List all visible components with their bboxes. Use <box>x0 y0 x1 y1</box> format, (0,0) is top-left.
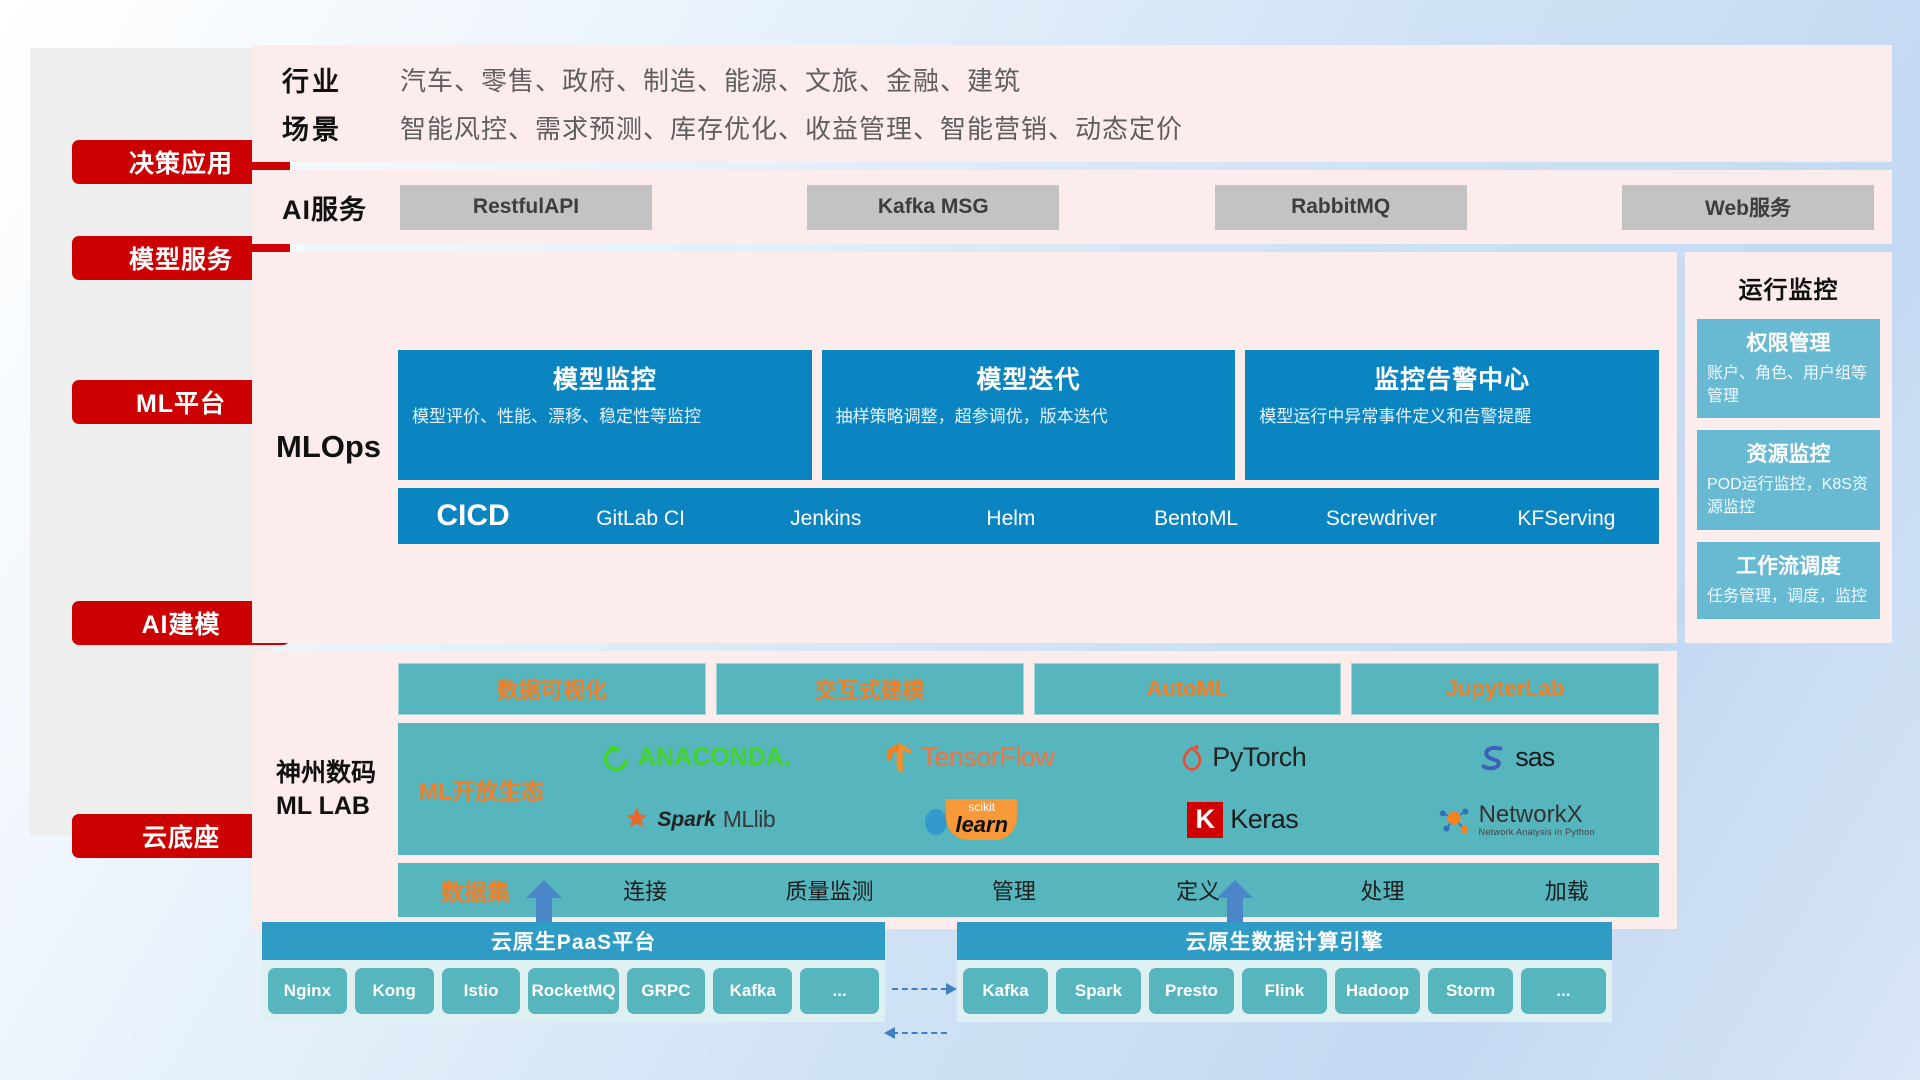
sas-logo: sas <box>1380 727 1654 789</box>
mllib-label: MLlib <box>723 806 775 833</box>
ml-lab-tools: 数据可视化 交互式建模 AutoML JupyterLab <box>398 663 1659 715</box>
dashed-arrow-right <box>946 983 957 995</box>
engine-chip-more[interactable]: ... <box>1521 968 1606 1014</box>
engine-chip-flink[interactable]: Flink <box>1242 968 1327 1014</box>
paas-chip-grpc[interactable]: GRPC <box>627 968 706 1014</box>
runtime-monitor-title: 运行监控 <box>1697 270 1880 305</box>
card-desc: 抽样策略调整，超参调优，版本迭代 <box>836 405 1222 430</box>
keras-logo: K Keras <box>1106 789 1380 851</box>
ml-lab-label-line1: 神州数码 <box>276 757 398 790</box>
data-engine-chips: Kafka Spark Presto Flink Hadoop Storm ..… <box>957 960 1612 1022</box>
paas-panel: 云原生PaaS平台 Nginx Kong Istio RocketMQ GRPC… <box>262 922 885 1022</box>
card-desc: 模型评价、性能、漂移、稳定性等监控 <box>412 405 798 430</box>
mlops-label: MLOps <box>276 429 398 465</box>
ai-service-kafka-msg[interactable]: Kafka MSG <box>807 185 1059 230</box>
tool-automl[interactable]: AutoML <box>1034 663 1342 715</box>
paas-chip-rocketmq[interactable]: RocketMQ <box>528 968 618 1014</box>
main-column: 行业 场景 汽车、零售、政府、制造、能源、文旅、金融、建筑 智能风控、需求预测、… <box>252 45 1892 929</box>
tool-jupyterlab[interactable]: JupyterLab <box>1351 663 1659 715</box>
keras-icon: K <box>1187 802 1223 838</box>
mlops-cards: 模型监控 模型评价、性能、漂移、稳定性等监控 模型迭代 抽样策略调整，超参调优，… <box>398 350 1659 480</box>
paas-chip-kafka[interactable]: Kafka <box>713 968 792 1014</box>
card-desc: POD运行监控，K8S资源监控 <box>1707 474 1870 519</box>
ai-service-band: AI服务 RestfulAPI Kafka MSG RabbitMQ Web服务 <box>252 170 1892 244</box>
card-desc: 任务管理，调度，监控 <box>1707 586 1870 609</box>
cicd-item-kfserving[interactable]: KFServing <box>1474 499 1659 534</box>
anaconda-icon <box>601 743 631 773</box>
spark-label: Spark <box>657 808 715 832</box>
arrow-shaft <box>1227 894 1243 922</box>
data-engine-panel: 云原生数据计算引擎 Kafka Spark Presto Flink Hadoo… <box>957 922 1612 1022</box>
networkx-label: NetworkX <box>1479 803 1595 827</box>
ai-service-label: AI服务 <box>282 188 400 227</box>
engine-chip-kafka[interactable]: Kafka <box>963 968 1048 1014</box>
mlops-card-model-iteration[interactable]: 模型迭代 抽样策略调整，超参调优，版本迭代 <box>822 350 1236 480</box>
card-title: 工作流调度 <box>1707 550 1870 580</box>
networkx-tagline: Network Analysis in Python <box>1479 827 1595 837</box>
paas-chip-kong[interactable]: Kong <box>355 968 434 1014</box>
mlops-band: MLOps 模型监控 模型评价、性能、漂移、稳定性等监控 模型迭代 抽样策略调整… <box>252 252 1677 643</box>
ai-service-web[interactable]: Web服务 <box>1622 185 1874 230</box>
ml-lab-body: 数据可视化 交互式建模 AutoML JupyterLab ML开放生态 <box>398 663 1659 917</box>
paas-title: 云原生PaaS平台 <box>262 922 885 960</box>
sas-label: sas <box>1515 742 1554 773</box>
spark-star-icon <box>616 805 650 835</box>
ai-service-rabbitmq[interactable]: RabbitMQ <box>1215 185 1467 230</box>
pytorch-icon <box>1179 742 1205 774</box>
industry-list: 汽车、零售、政府、制造、能源、文旅、金融、建筑 <box>400 56 1892 104</box>
cicd-item-screwdriver[interactable]: Screwdriver <box>1289 499 1474 534</box>
paas-chips: Nginx Kong Istio RocketMQ GRPC Kafka ... <box>262 960 885 1022</box>
tensorflow-icon <box>884 741 914 775</box>
networkx-logo: NetworkX Network Analysis in Python <box>1380 789 1654 851</box>
dashed-link-left <box>892 1032 947 1034</box>
scikit-learn-logo: scikit learn <box>833 789 1107 851</box>
networkx-graph-icon <box>1438 804 1472 836</box>
engine-chip-spark[interactable]: Spark <box>1056 968 1141 1014</box>
card-title: 模型监控 <box>412 360 798 396</box>
card-title: 监控告警中心 <box>1259 360 1645 396</box>
dashed-arrow-left <box>884 1027 895 1039</box>
monitor-card-workflow[interactable]: 工作流调度 任务管理，调度，监控 <box>1697 542 1880 619</box>
industry-scenario-band: 行业 场景 汽车、零售、政府、制造、能源、文旅、金融、建筑 智能风控、需求预测、… <box>252 45 1892 162</box>
card-desc: 模型运行中异常事件定义和告警提醒 <box>1259 405 1645 430</box>
mlops-and-monitor-row: MLOps 模型监控 模型评价、性能、漂移、稳定性等监控 模型迭代 抽样策略调整… <box>252 252 1892 643</box>
engine-chip-hadoop[interactable]: Hadoop <box>1335 968 1420 1014</box>
ml-ecosystem-row: ML开放生态 ANACONDA. <box>398 723 1659 855</box>
card-title: 资源监控 <box>1707 438 1870 468</box>
arrow-up-engine <box>1217 880 1253 922</box>
cicd-row: CICD GitLab CI Jenkins Helm BentoML Scre… <box>398 488 1659 544</box>
tool-data-visualization[interactable]: 数据可视化 <box>398 663 706 715</box>
scikit-learn-wordmark: scikit learn <box>946 799 1017 840</box>
ai-service-restfulapi[interactable]: RestfulAPI <box>400 185 652 230</box>
networkx-wordmark: NetworkX Network Analysis in Python <box>1479 803 1595 837</box>
industry-scenario-labels: 行业 场景 <box>282 56 400 152</box>
tool-interactive-modeling[interactable]: 交互式建模 <box>716 663 1024 715</box>
layer-rail: 决策应用 模型服务 ML平台 AI建模 云底座 <box>30 48 272 836</box>
monitor-card-permission[interactable]: 权限管理 账户、角色、用户组等管理 <box>1697 319 1880 418</box>
engine-chip-storm[interactable]: Storm <box>1428 968 1513 1014</box>
card-title: 模型迭代 <box>836 360 1222 396</box>
tensorflow-label: TensorFlow <box>921 742 1054 773</box>
scenario-label: 场景 <box>282 104 400 152</box>
runtime-monitor-panel: 运行监控 权限管理 账户、角色、用户组等管理 资源监控 POD运行监控，K8S资… <box>1685 252 1892 643</box>
cicd-item-gitlab-ci[interactable]: GitLab CI <box>548 499 733 534</box>
card-title: 权限管理 <box>1707 327 1870 357</box>
engine-chip-presto[interactable]: Presto <box>1149 968 1234 1014</box>
tensorflow-logo: TensorFlow <box>833 727 1107 789</box>
cicd-item-bentoml[interactable]: BentoML <box>1104 499 1289 534</box>
ml-lab-label-line2: ML LAB <box>276 790 398 823</box>
paas-chip-more[interactable]: ... <box>800 968 879 1014</box>
cicd-item-helm[interactable]: Helm <box>918 499 1103 534</box>
mlops-card-model-monitoring[interactable]: 模型监控 模型评价、性能、漂移、稳定性等监控 <box>398 350 812 480</box>
industry-scenario-values: 汽车、零售、政府、制造、能源、文旅、金融、建筑 智能风控、需求预测、库存优化、收… <box>400 56 1892 152</box>
paas-chip-istio[interactable]: Istio <box>442 968 521 1014</box>
cicd-items: GitLab CI Jenkins Helm BentoML Screwdriv… <box>548 499 1659 534</box>
sas-icon <box>1478 744 1508 772</box>
ml-ecosystem-label: ML开放生态 <box>404 772 559 806</box>
arrow-up-paas <box>526 880 562 922</box>
scenario-list: 智能风控、需求预测、库存优化、收益管理、智能营销、动态定价 <box>400 104 1892 152</box>
cicd-item-jenkins[interactable]: Jenkins <box>733 499 918 534</box>
spark-mllib-logo: Spark MLlib <box>559 789 833 851</box>
cloud-base-section: 云原生PaaS平台 Nginx Kong Istio RocketMQ GRPC… <box>252 880 1912 1060</box>
keras-label: Keras <box>1230 804 1298 835</box>
pytorch-label: PyTorch <box>1212 742 1306 773</box>
cicd-label: CICD <box>398 499 548 533</box>
mlops-card-alert-center[interactable]: 监控告警中心 模型运行中异常事件定义和告警提醒 <box>1245 350 1659 480</box>
learn-label: learn <box>955 813 1008 836</box>
anaconda-label: ANACONDA. <box>638 743 791 772</box>
monitor-card-resource[interactable]: 资源监控 POD运行监控，K8S资源监控 <box>1697 430 1880 529</box>
mlops-body: 模型监控 模型评价、性能、漂移、稳定性等监控 模型迭代 抽样策略调整，超参调优，… <box>398 350 1659 544</box>
industry-label: 行业 <box>282 56 400 104</box>
ml-lab-label: 神州数码 ML LAB <box>276 757 398 822</box>
arrow-shaft <box>536 894 552 922</box>
paas-chip-nginx[interactable]: Nginx <box>268 968 347 1014</box>
ml-ecosystem-logos: ANACONDA. TensorFlow <box>559 727 1653 851</box>
dashed-link-right <box>892 988 947 990</box>
card-desc: 账户、角色、用户组等管理 <box>1707 363 1870 408</box>
architecture-diagram: 决策应用 模型服务 ML平台 AI建模 云底座 行业 场景 汽车、零售、政府、制… <box>0 0 1920 1080</box>
data-engine-title: 云原生数据计算引擎 <box>957 922 1612 960</box>
pytorch-logo: PyTorch <box>1106 727 1380 789</box>
anaconda-logo: ANACONDA. <box>559 727 833 789</box>
ai-service-items: RestfulAPI Kafka MSG RabbitMQ Web服务 <box>400 185 1874 230</box>
